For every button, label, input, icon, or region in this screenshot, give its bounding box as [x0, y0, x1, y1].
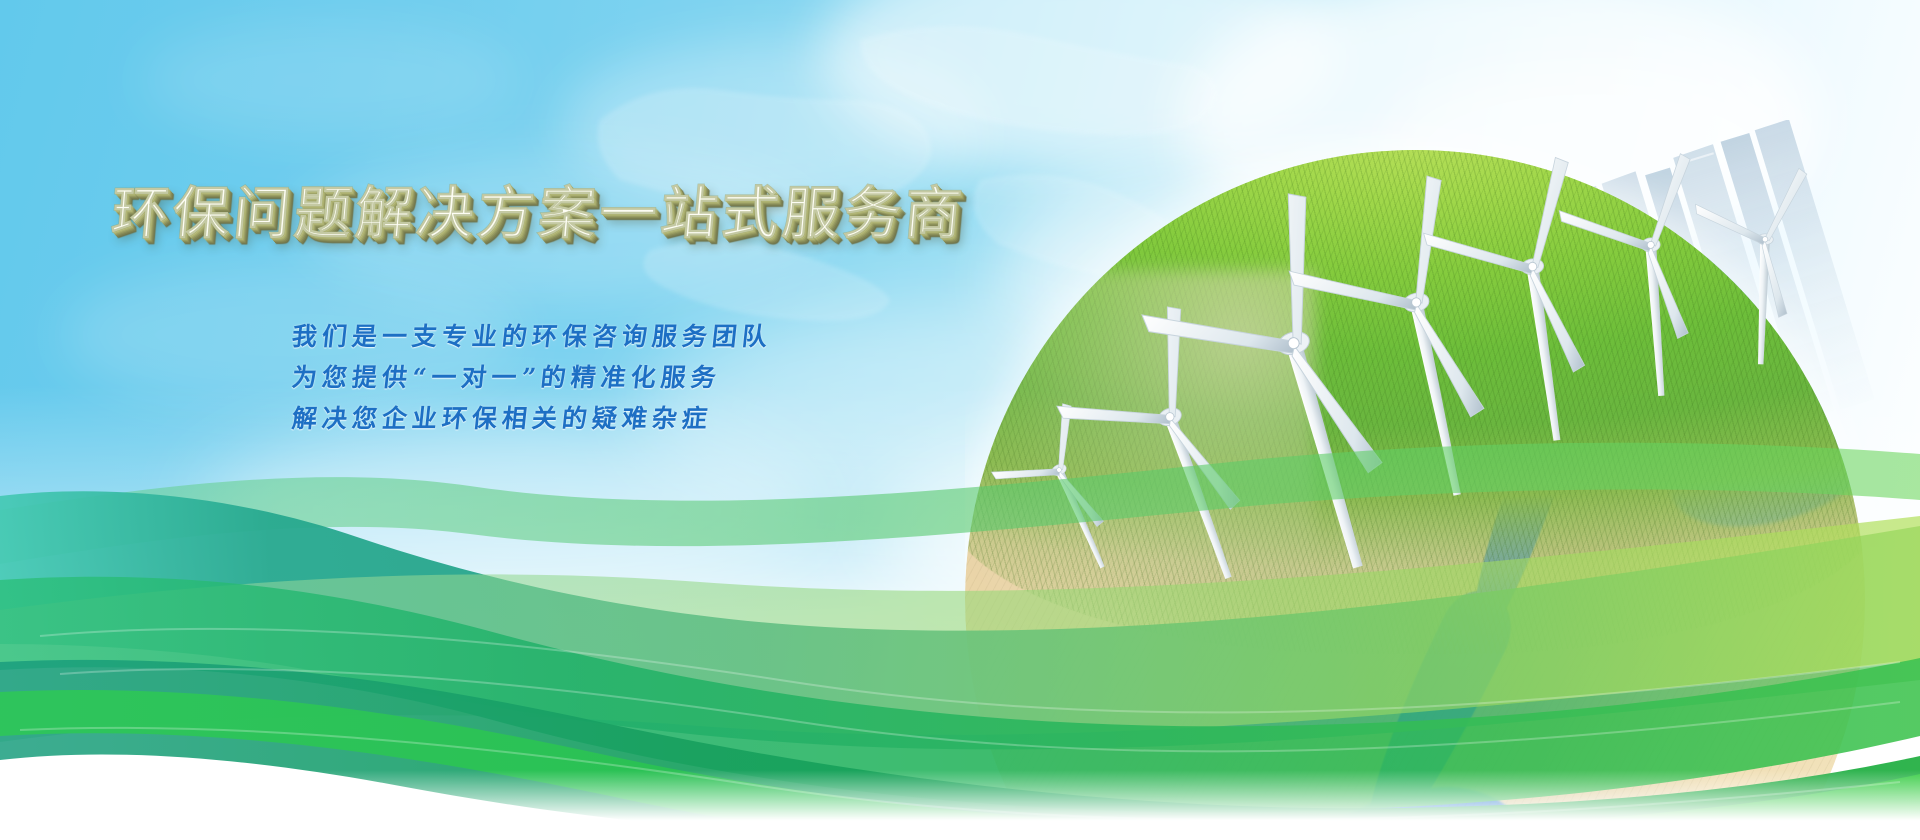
subtitle-block: 我们是一支专业的环保咨询服务团队 为您提供“一对一”的精准化服务 解决您企业环保… [292, 316, 772, 439]
green-wave-ribbon [0, 430, 1920, 840]
subtitle-line-1: 我们是一支专业的环保咨询服务团队 [290, 316, 774, 357]
subtitle-line-3: 解决您企业环保相关的疑难杂症 [290, 398, 774, 439]
subtitle-line-2: 为您提供“一对一”的精准化服务 [290, 357, 774, 398]
hero-banner: 环保问题解决方案一站式服务商 我们是一支专业的环保咨询服务团队 为您提供“一对一… [0, 0, 1920, 840]
page-title: 环保问题解决方案一站式服务商 [108, 168, 969, 250]
